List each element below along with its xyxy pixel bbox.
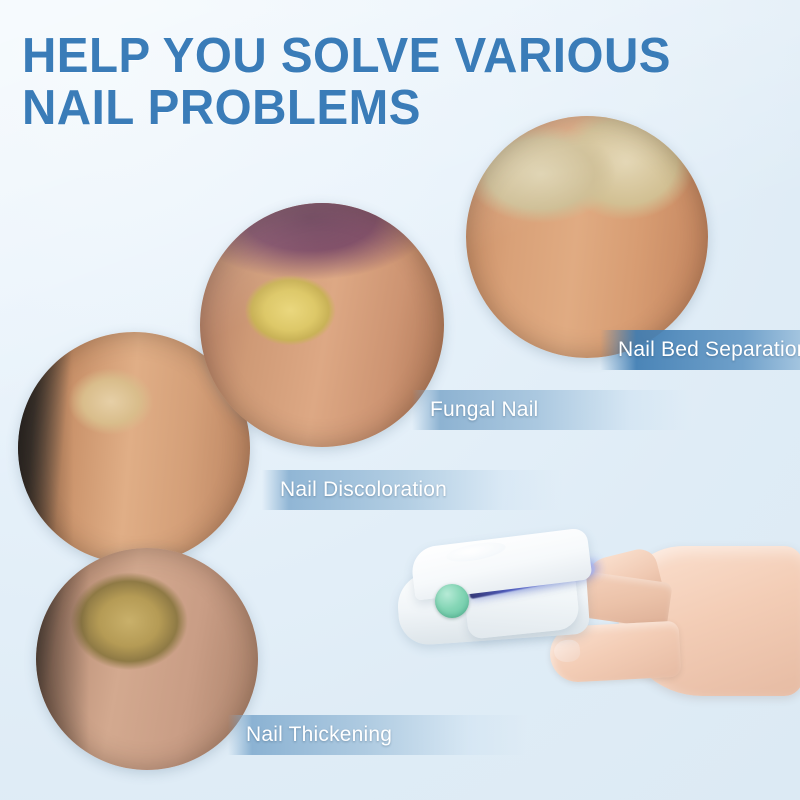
photo-vignette [36, 548, 258, 770]
caption-label: Nail Thickening [246, 723, 392, 747]
photo-fungal-nail [200, 203, 444, 447]
caption-label: Fungal Nail [430, 398, 538, 422]
headline-line-2: NAIL PROBLEMS [22, 82, 720, 134]
caption-nail-discoloration: Nail Discoloration [262, 470, 562, 510]
photo-gloss [200, 203, 444, 447]
headline-line-1: HELP YOU SOLVE VARIOUS [22, 29, 671, 83]
photo-gloss [466, 116, 708, 358]
caption-label: Nail Bed Separation [618, 338, 800, 362]
caption-nail-bed-separation: Nail Bed Separation [600, 330, 800, 370]
caption-nail-thickening: Nail Thickening [228, 715, 528, 755]
device-power-button[interactable] [435, 584, 469, 618]
advertisement-canvas: HELP YOU SOLVE VARIOUS NAIL PROBLEMS Nai… [0, 0, 800, 800]
caption-label: Nail Discoloration [280, 478, 447, 502]
photo-nail-bed-separation [466, 116, 708, 358]
page-title: HELP YOU SOLVE VARIOUS NAIL PROBLEMS [22, 30, 720, 134]
photo-nail-thickening [36, 548, 258, 770]
caption-fungal-nail: Fungal Nail [412, 390, 692, 430]
